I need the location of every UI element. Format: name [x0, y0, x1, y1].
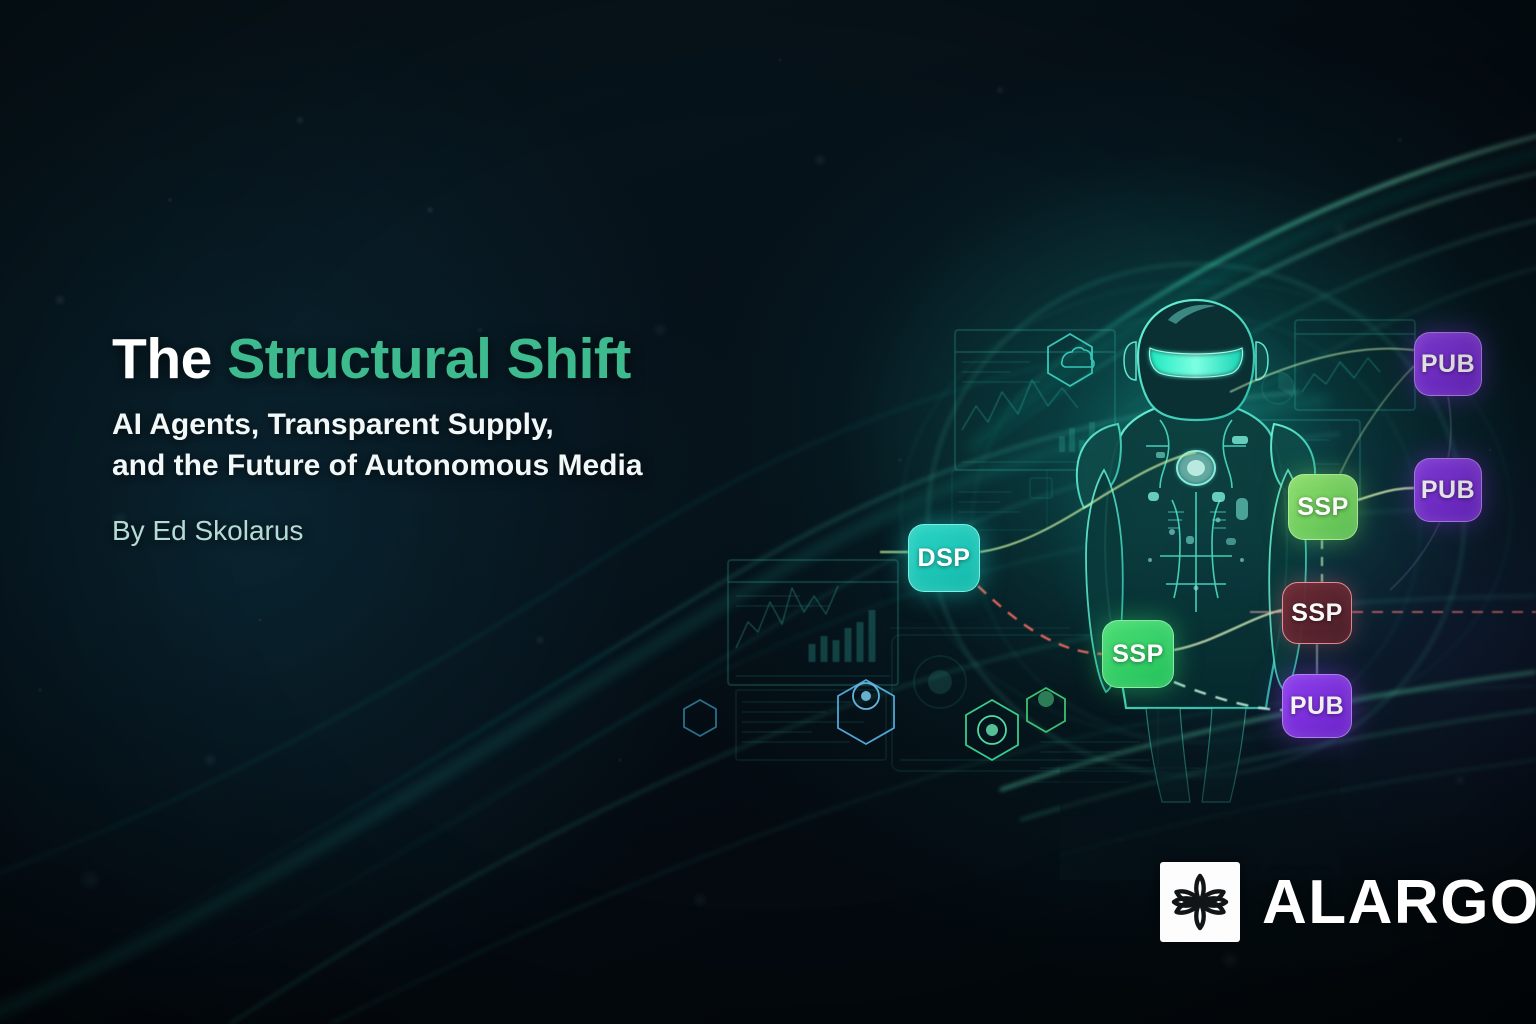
node-ssp-green[interactable]: SSP [1102, 620, 1174, 688]
poster-canvas: DSP SSP SSP SSP PUB PUB PUB The Structur… [0, 0, 1536, 1024]
brand-logo[interactable]: ALARGO [1160, 862, 1536, 942]
node-dsp[interactable]: DSP [908, 524, 980, 592]
node-pub-1[interactable]: PUB [1414, 332, 1482, 396]
subtitle-line-2: and the Future of Autonomous Media [112, 446, 812, 487]
node-ssp-lime[interactable]: SSP [1288, 474, 1358, 540]
brand-wordmark: ALARGO [1262, 867, 1536, 938]
flower-petal-icon [1160, 862, 1240, 942]
title-prefix: The [112, 327, 227, 391]
node-pub-3[interactable]: PUB [1282, 674, 1352, 738]
node-ssp-red[interactable]: SSP [1282, 582, 1352, 644]
node-pub-2[interactable]: PUB [1414, 458, 1482, 522]
subtitle-line-1: AI Agents, Transparent Supply, [112, 405, 812, 446]
page-subtitle: AI Agents, Transparent Supply, and the F… [112, 405, 812, 487]
author-byline: By Ed Skolarus [112, 515, 812, 547]
hero-text-block: The Structural Shift AI Agents, Transpar… [112, 330, 812, 547]
page-title: The Structural Shift [112, 330, 812, 389]
title-accent: Structural Shift [227, 327, 631, 391]
